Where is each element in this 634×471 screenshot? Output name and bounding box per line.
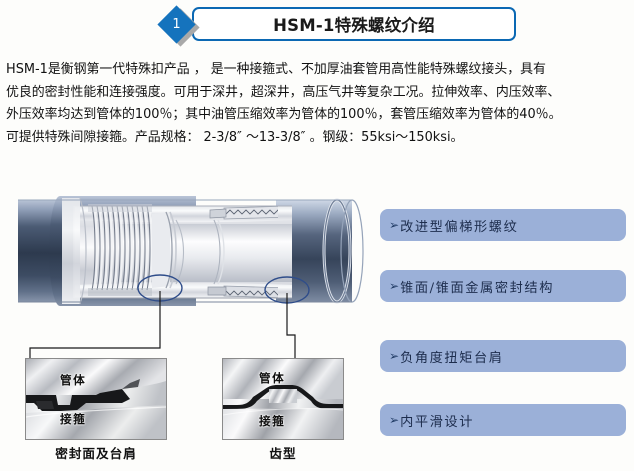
leader-line-right	[287, 293, 295, 358]
callout-leader-lines	[0, 280, 372, 370]
feature-label-3: 负角度扭矩台肩	[400, 347, 504, 366]
arrow-right-icon: ➢	[389, 280, 399, 292]
intro-paragraph: HSM-1是衡钢第一代特殊扣产品 ， 是一种接箍式、不加厚油套管用高性能特殊螺纹…	[6, 59, 631, 149]
feature-box-2[interactable]: ➢ 锥面/锥面金属密封结构	[380, 270, 626, 302]
leader-line-left	[30, 291, 160, 358]
paragraph-line-4: 可提供特殊间隙接箍。产品规格： 2-3/8″ ～13-3/8″ 。钢级：55ks…	[6, 127, 631, 150]
detail-caption-thread: 齿型	[222, 443, 344, 462]
detail-image-seal: 管体 接箍	[25, 358, 167, 440]
paragraph-line-1: HSM-1是衡钢第一代特殊扣产品 ， 是一种接箍式、不加厚油套管用高性能特殊螺纹…	[6, 59, 631, 82]
detail-label-pipe-body-left: 管体	[60, 372, 86, 388]
detail-callout-thread: 管体 接箍 齿型	[222, 358, 344, 462]
feature-label-4: 内平滑设计	[400, 411, 474, 430]
feature-label-2: 锥面/锥面金属密封结构	[400, 277, 554, 296]
feature-box-4[interactable]: ➢ 内平滑设计	[380, 404, 626, 436]
detail-caption-seal: 密封面及台肩	[25, 443, 167, 462]
arrow-right-icon: ➢	[389, 414, 399, 426]
detail-label-pipe-body-right: 管体	[259, 370, 285, 386]
paragraph-line-3: 外压效率均达到管体的100％；其中油管压缩效率为管体的100％，套管压缩效率为管…	[6, 104, 631, 127]
page-title: HSM-1特殊螺纹介绍	[192, 7, 516, 41]
seal-profile-svg	[26, 359, 166, 439]
slide-header: HSM-1特殊螺纹介绍 1	[152, 5, 518, 45]
arrow-right-icon: ➢	[389, 219, 399, 231]
arrow-right-icon: ➢	[389, 350, 399, 362]
feature-box-3[interactable]: ➢ 负角度扭矩台肩	[380, 340, 626, 372]
step-badge-number: 1	[163, 11, 190, 38]
feature-box-1[interactable]: ➢ 改进型偏梯形螺纹	[380, 209, 626, 241]
paragraph-line-2: 优良的密封性能和连接强度。可用于深井，超深井，高压气井等复杂工况。拉伸效率、内压…	[6, 82, 631, 105]
detail-label-coupling-right: 接箍	[259, 413, 285, 429]
detail-label-coupling-left: 接箍	[60, 411, 86, 427]
feature-label-1: 改进型偏梯形螺纹	[400, 216, 518, 235]
slide-canvas: HSM-1特殊螺纹介绍 1 HSM-1是衡钢第一代特殊扣产品 ， 是一种接箍式、…	[0, 0, 634, 471]
detail-image-thread: 管体 接箍	[222, 358, 344, 440]
detail-callout-seal: 管体 接箍 密封面及台肩	[25, 358, 167, 462]
